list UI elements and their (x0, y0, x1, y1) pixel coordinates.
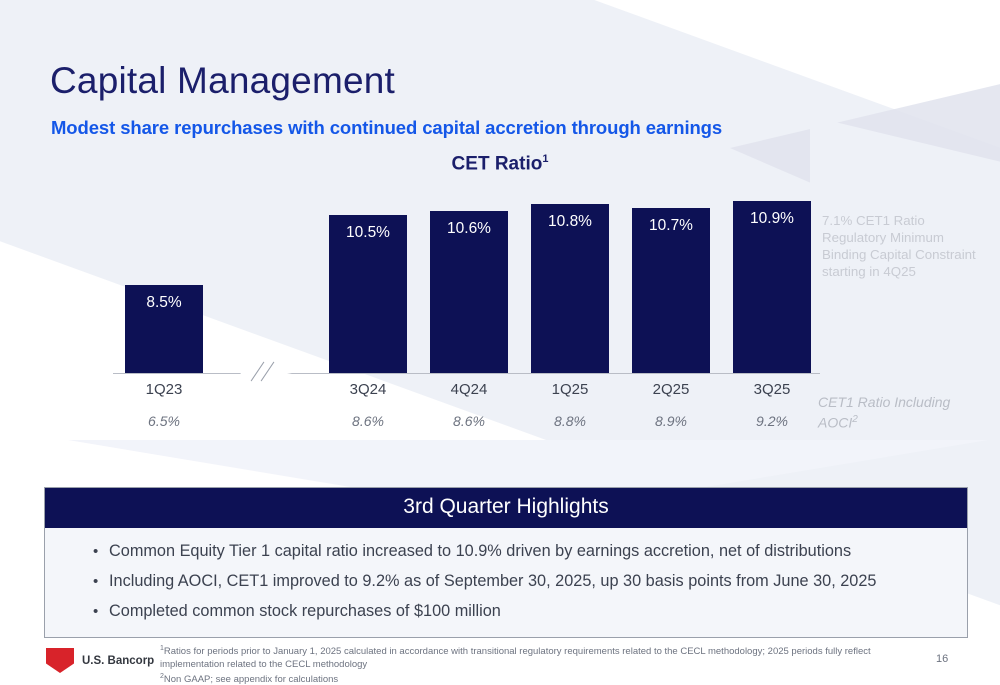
footnote-1: 1Ratios for periods prior to January 1, … (160, 643, 910, 671)
list-item-text: Including AOCI, CET1 improved to 9.2% as… (109, 572, 876, 591)
bar: 10.8% (531, 204, 609, 373)
bar: 10.7% (632, 208, 710, 373)
bar: 10.5% (329, 215, 407, 373)
slide-root: Capital Management Modest share repurcha… (0, 0, 1000, 685)
bullet-icon: • (93, 544, 109, 559)
cet-ratio-chart: CET Ratio1 8.5% 10.5% 10.6% 10.8% 10.7% (0, 0, 1000, 470)
bar-value-label: 10.8% (531, 213, 609, 231)
footnote-1-text: Ratios for periods prior to January 1, 2… (160, 646, 871, 670)
list-item: • Including AOCI, CET1 improved to 9.2% … (45, 572, 967, 591)
bar-value-label: 8.5% (125, 294, 203, 312)
x-axis-label: 4Q24 (430, 381, 508, 398)
x-axis-label: 2Q25 (632, 381, 710, 398)
highlights-body: • Common Equity Tier 1 capital ratio inc… (45, 528, 967, 637)
bar-value-label: 10.9% (733, 210, 811, 228)
footnote-2: 2Non GAAP; see appendix for calculations (160, 671, 910, 685)
aoci-caption-text: CET1 Ratio Including AOCI (818, 394, 950, 431)
x-axis-label: 1Q25 (531, 381, 609, 398)
list-item-text: Completed common stock repurchases of $1… (109, 602, 501, 621)
logo-label: U.S. Bancorp (82, 655, 154, 667)
bar-value-label: 10.7% (632, 217, 710, 235)
list-item: • Completed common stock repurchases of … (45, 602, 967, 621)
aoci-value-label: 6.5% (125, 413, 203, 429)
bar-value-label: 10.6% (430, 220, 508, 238)
x-axis-label: 1Q23 (125, 381, 203, 398)
page-number: 16 (936, 653, 948, 665)
aoci-value-label: 8.9% (632, 413, 710, 429)
aoci-value-label: 9.2% (733, 413, 811, 429)
aoci-value-label: 8.6% (329, 413, 407, 429)
bullet-icon: • (93, 604, 109, 619)
highlights-header: 3rd Quarter Highlights (45, 488, 967, 528)
list-item-text: Common Equity Tier 1 capital ratio incre… (109, 542, 851, 561)
aoci-value-label: 8.8% (531, 413, 609, 429)
footnotes: 1Ratios for periods prior to January 1, … (160, 643, 910, 685)
list-item: • Common Equity Tier 1 capital ratio inc… (45, 542, 967, 561)
bar-value-label: 10.5% (329, 224, 407, 242)
company-logo: U.S. Bancorp (46, 648, 154, 673)
bullet-icon: • (93, 574, 109, 589)
aoci-caption-footnote-marker: 2 (852, 414, 858, 425)
footnote-2-text: Non GAAP; see appendix for calculations (164, 674, 338, 685)
axis-break-marker (243, 360, 289, 384)
bar: 8.5% (125, 285, 203, 373)
x-axis-label: 3Q24 (329, 381, 407, 398)
bar: 10.9% (733, 201, 811, 373)
bar: 10.6% (430, 211, 508, 373)
regulatory-minimum-annotation: 7.1% CET1 Ratio Regulatory Minimum Bindi… (822, 212, 982, 280)
aoci-series-caption: CET1 Ratio Including AOCI2 (818, 393, 988, 432)
x-axis-line (113, 373, 820, 374)
x-axis-label: 3Q25 (733, 381, 811, 398)
shield-icon (46, 648, 74, 673)
aoci-value-label: 8.6% (430, 413, 508, 429)
highlights-panel: 3rd Quarter Highlights • Common Equity T… (44, 487, 968, 638)
